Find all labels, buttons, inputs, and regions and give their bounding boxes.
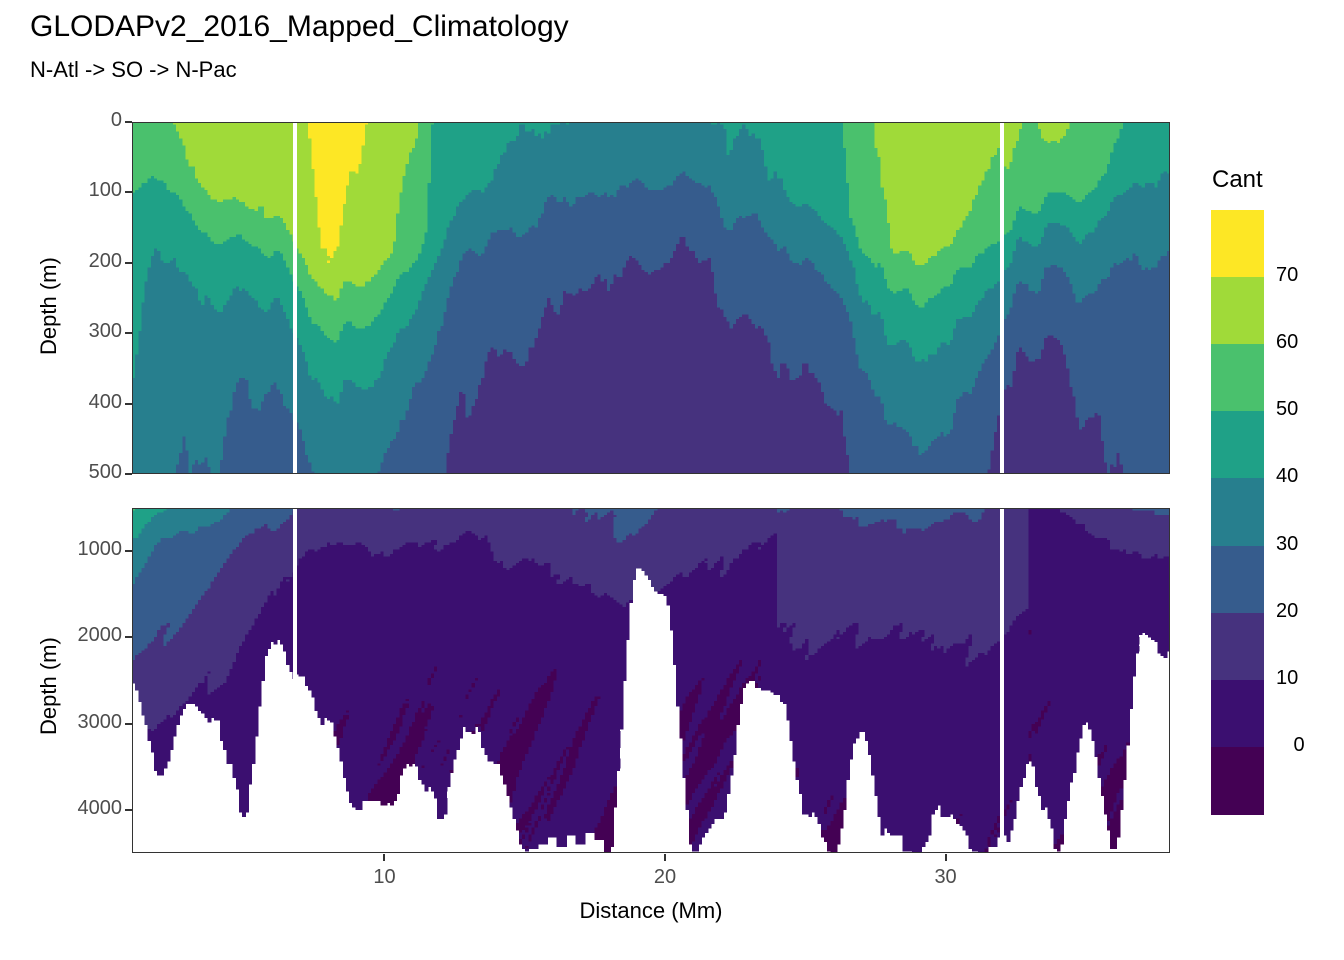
lower-depth-panel <box>132 508 1170 853</box>
legend-color-band <box>1211 210 1264 278</box>
x-tick-label: 30 <box>906 866 986 889</box>
section-divider-line <box>293 123 297 473</box>
lower-y-tickmark <box>125 636 132 638</box>
section-divider-line <box>1000 509 1004 852</box>
upper-y-tick-label: 500 <box>60 461 122 484</box>
legend-tick-label: 20 <box>1276 600 1322 623</box>
legend-color-band <box>1211 277 1264 345</box>
upper-y-tickmark <box>125 121 132 123</box>
legend-tick-label: 70 <box>1276 264 1322 287</box>
x-tickmark <box>664 854 666 861</box>
upper-y-tick-label: 400 <box>60 391 122 414</box>
page-subtitle: N-Atl -> SO -> N-Pac <box>30 57 237 83</box>
x-tickmark <box>383 854 385 861</box>
x-axis-title: Distance (Mm) <box>132 898 1170 924</box>
upper-y-tickmark <box>125 473 132 475</box>
upper-y-axis-title: Depth (m) <box>36 257 62 355</box>
lower-y-tickmark <box>125 723 132 725</box>
upper-y-tickmark <box>125 403 132 405</box>
legend-color-band <box>1211 411 1264 479</box>
upper-y-tickmark <box>125 332 132 334</box>
upper-y-tick-label: 300 <box>60 320 122 343</box>
lower-y-tick-label: 1000 <box>45 538 122 561</box>
lower-y-tickmark <box>125 550 132 552</box>
legend-title: Cant <box>1212 166 1263 194</box>
section-divider-line <box>1000 123 1004 473</box>
x-tickmark <box>945 854 947 861</box>
legend-colorbar[interactable] <box>1211 210 1264 814</box>
legend-color-band <box>1211 747 1264 815</box>
upper-y-tick-label: 200 <box>60 250 122 273</box>
legend-tick-label: 30 <box>1276 533 1322 556</box>
upper-contour-plot <box>132 122 1170 474</box>
upper-y-tickmark <box>125 191 132 193</box>
legend-color-band <box>1211 546 1264 614</box>
legend-color-band <box>1211 478 1264 546</box>
lower-y-tick-label: 4000 <box>45 797 122 820</box>
lower-y-tick-label: 3000 <box>45 711 122 734</box>
lower-contour-plot <box>132 508 1170 853</box>
legend-tick-label: 0 <box>1276 734 1322 757</box>
page-title: GLODAPv2_2016_Mapped_Climatology <box>30 10 569 44</box>
section-divider-line <box>293 509 297 852</box>
upper-y-tick-label: 100 <box>60 179 122 202</box>
x-tick-label: 10 <box>344 866 424 889</box>
legend-tick-label: 40 <box>1276 465 1322 488</box>
upper-y-tickmark <box>125 262 132 264</box>
legend-tick-label: 10 <box>1276 667 1322 690</box>
lower-y-tick-label: 2000 <box>45 624 122 647</box>
legend-tick-label: 50 <box>1276 398 1322 421</box>
upper-depth-panel <box>132 122 1170 474</box>
legend-color-band <box>1211 680 1264 748</box>
upper-y-tick-label: 0 <box>60 109 122 132</box>
x-tick-label: 20 <box>625 866 705 889</box>
legend-tick-label: 60 <box>1276 331 1322 354</box>
lower-y-tickmark <box>125 809 132 811</box>
legend-color-band <box>1211 344 1264 412</box>
legend-color-band <box>1211 613 1264 681</box>
